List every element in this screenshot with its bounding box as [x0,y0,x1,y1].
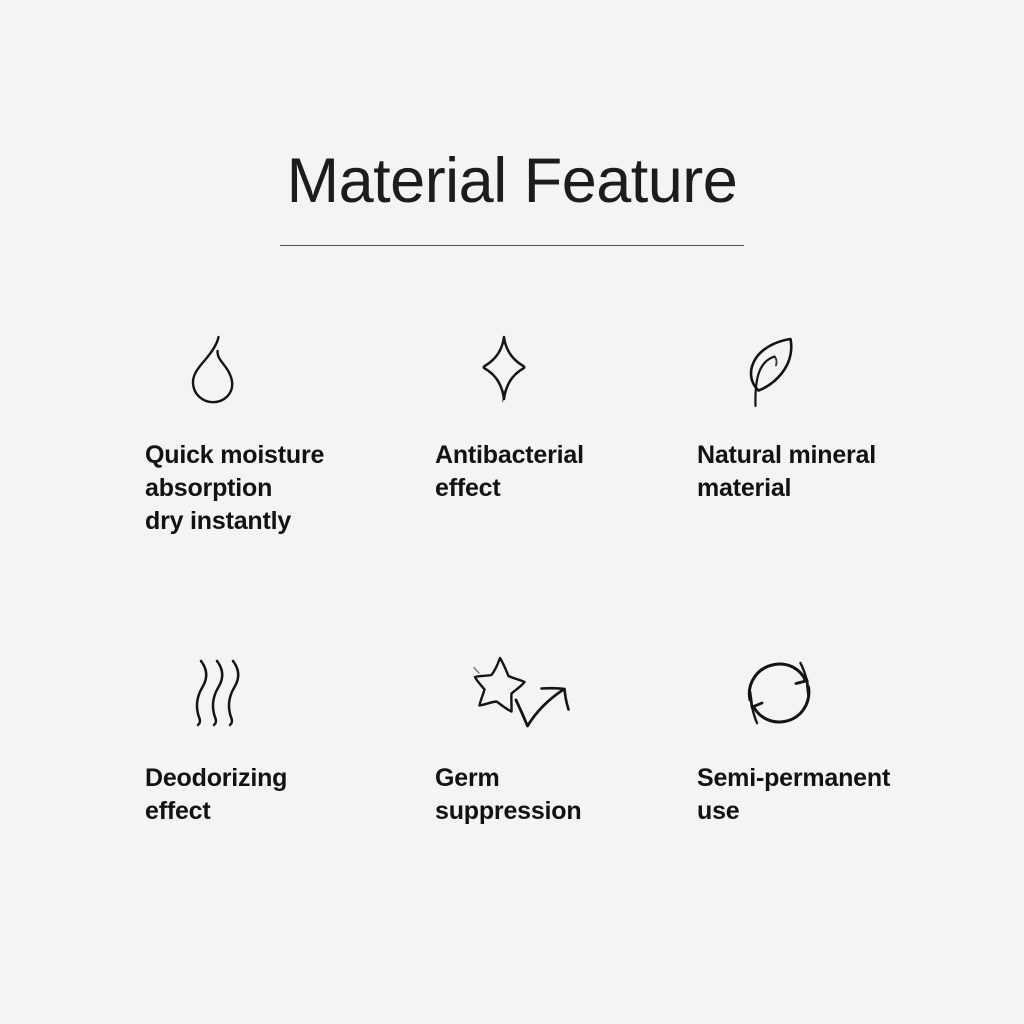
feature-label: Antibacterial effect [435,439,697,505]
feature-label: Semi-permanent use [697,762,945,828]
sparkle-icon [435,333,697,411]
feature-item-natural-mineral: Natural mineral material [697,333,945,656]
recycle-arrows-icon [697,656,945,730]
feature-grid: Quick moisture absorption dry instantly … [145,333,945,828]
feature-item-quick-moisture: Quick moisture absorption dry instantly [145,333,435,656]
feature-item-deodorizing: Deodorizing effect [145,656,435,828]
feature-label: Germ suppression [435,762,697,828]
feature-label: Deodorizing effect [145,762,435,828]
feature-item-semi-permanent: Semi-permanent use [697,656,945,828]
page-title: Material Feature [0,148,1024,214]
water-drop-icon [145,333,435,411]
feature-item-antibacterial: Antibacterial effect [435,333,697,656]
page-header: Material Feature [0,148,1024,246]
leaf-icon [697,333,945,411]
title-divider [280,245,744,246]
feature-label: Natural mineral material [697,439,945,505]
odor-waves-icon [145,656,435,730]
feature-label: Quick moisture absorption dry instantly [145,439,435,538]
feature-item-germ-suppression: Germ suppression [435,656,697,828]
germ-star-arrow-icon [435,656,697,730]
